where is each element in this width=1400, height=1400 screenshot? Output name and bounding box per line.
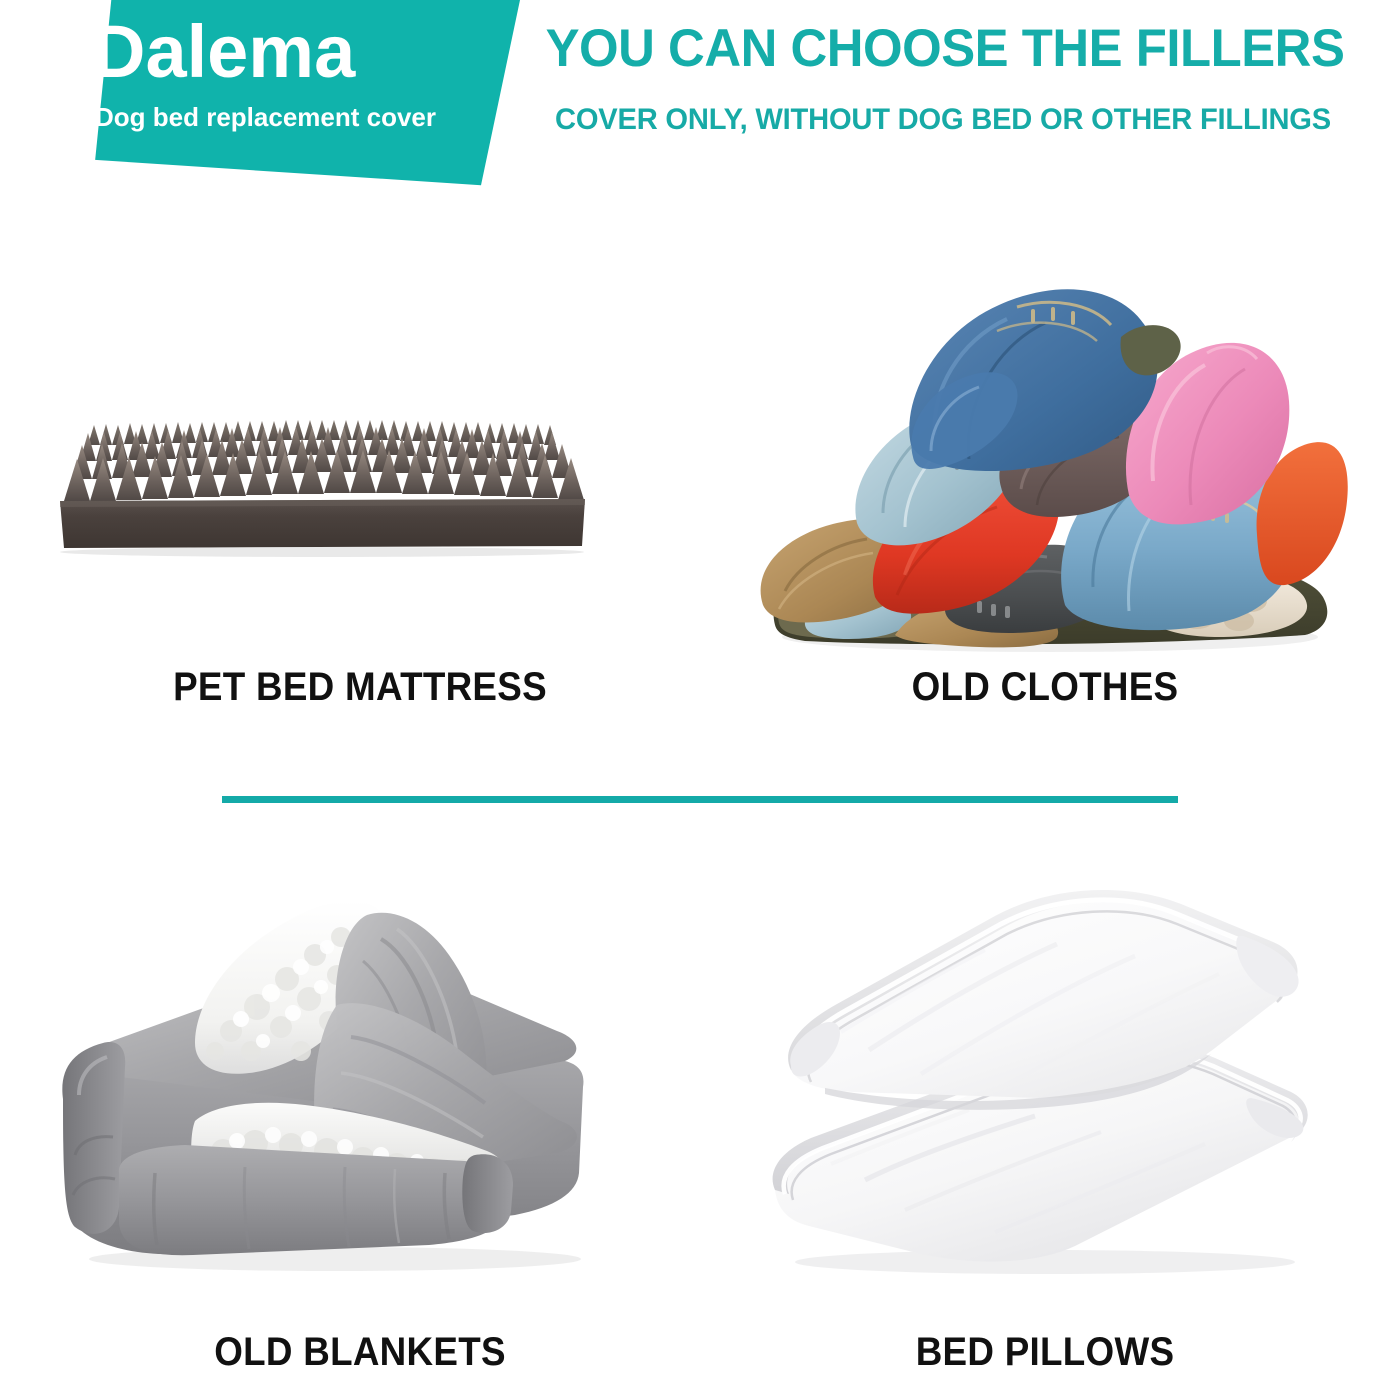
subheadline-text: COVER ONLY, WITHOUT DOG BED OR OTHER FIL… [511,101,1374,139]
section-divider [222,796,1178,803]
egg-crate-foam-icon [50,415,595,560]
old-blankets-image [20,840,700,1360]
brand-tagline: Dog bed replacement cover [95,101,495,133]
filler-card-old-blankets: OLD BLANKETS [20,840,700,1360]
filler-label-old-clothes: OLD CLOTHES [728,665,1363,710]
filler-label-pet-bed-mattress: PET BED MATTRESS [47,665,673,710]
header-banner: Dalema Dog bed replacement cover YOU CAN… [0,0,1400,200]
pet-bed-mattress-image [20,200,700,740]
filler-card-old-clothes: OLD CLOTHES [700,195,1390,740]
filler-card-pet-bed-mattress: PET BED MATTRESS [20,200,700,740]
brand-name: Dalema [92,6,492,98]
clothes-pile-icon [745,205,1355,655]
old-clothes-image [700,195,1390,740]
filler-card-bed-pillows: BED PILLOWS [700,840,1390,1360]
filler-label-bed-pillows: BED PILLOWS [728,1330,1363,1375]
bed-pillows-image [700,840,1390,1360]
folded-blanket-icon [45,855,605,1275]
stacked-pillows-icon [745,860,1320,1280]
headline-text: YOU CAN CHOOSE THE FILLERS [518,18,1372,80]
filler-label-old-blankets: OLD BLANKETS [47,1330,673,1375]
